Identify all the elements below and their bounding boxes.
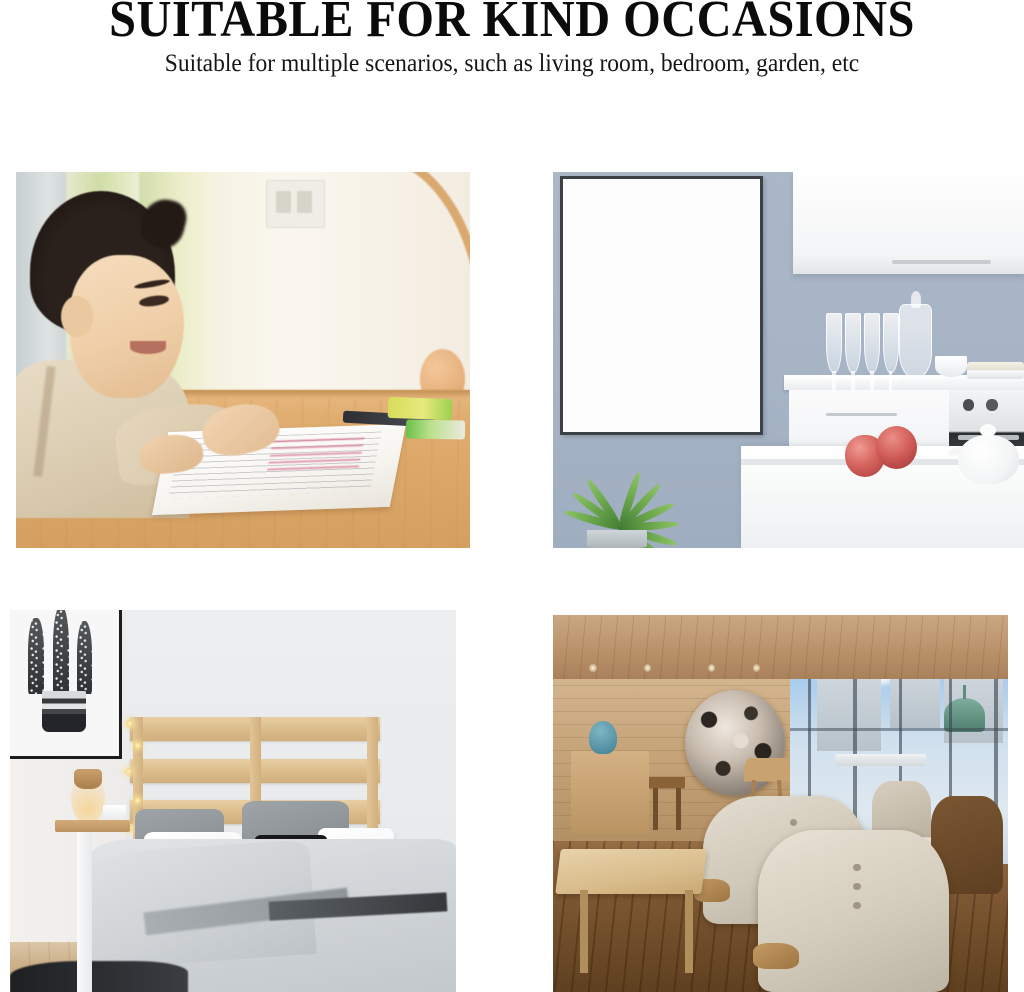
bedroom-fairy-light (134, 742, 141, 749)
living-room-armrest-front (753, 943, 799, 969)
living-room-ceiling (553, 615, 1008, 679)
living-room-scene-artwork (553, 615, 1008, 992)
bedroom-fairy-light (125, 768, 132, 775)
kitchen-bowl (935, 356, 968, 377)
kitchen-upper-cabinet-handle (892, 260, 991, 264)
bedroom-nightstand (55, 820, 131, 992)
bedroom-lamp-shade (74, 769, 101, 790)
living-room-armchair-button (853, 883, 860, 890)
scene-photo-living-room: living room (553, 615, 1008, 992)
kitchen-oven-knob-right (986, 399, 997, 410)
bedroom-scene-artwork (10, 610, 456, 992)
kitchen-teapot (958, 435, 1019, 484)
living-room-coffee-table (555, 849, 706, 894)
bedroom-cup (103, 805, 126, 820)
kitchen-plant-pot (587, 530, 648, 548)
scene-photo-study: study (16, 172, 470, 548)
study-boy-mouth (130, 341, 166, 354)
kitchen-wine-glass-4 (883, 313, 899, 373)
living-room-window-transom (781, 728, 1009, 731)
kitchen-decanter (899, 304, 932, 379)
kitchen-framed-panel (560, 176, 763, 435)
bedroom-fairy-light (126, 720, 133, 727)
scene-photo-bedroom: bedroom (10, 610, 456, 992)
kitchen-wine-glass-1 (826, 313, 842, 373)
living-room-armchair-button (790, 819, 797, 826)
bedroom-cactus-arm (53, 610, 69, 697)
page-subtitle: Suitable for multiple scenarios, such as… (31, 49, 994, 79)
bedroom-cactus-pot (42, 691, 86, 732)
bedroom-cactus-arm (28, 618, 43, 694)
living-room-vase (589, 721, 616, 755)
kitchen-plates-stack (967, 362, 1024, 379)
living-room-armchair-button (853, 864, 860, 871)
study-glue-stick-second (406, 420, 465, 440)
kitchen-wine-glass-2 (845, 313, 861, 373)
bedroom-fairy-light (134, 797, 141, 804)
bedroom-nightstand-leg (77, 832, 92, 992)
kitchen-upper-cabinet (793, 172, 1024, 274)
kitchen-scene-artwork (553, 172, 1024, 548)
header: SUITABLE FOR KIND OCCASIONS Suitable for… (0, 0, 1024, 110)
living-room-coffee-table-leg (685, 890, 693, 973)
study-workbook-pink-marks (267, 437, 365, 474)
living-room-sideboard (571, 751, 648, 834)
study-glue-stick (388, 396, 452, 419)
living-room-coffee-table-leg (580, 890, 588, 973)
page-title: SUITABLE FOR KIND OCCASIONS (36, 0, 988, 45)
bedroom-cactus-arm (77, 621, 92, 694)
kitchen-wine-glass-3 (864, 313, 880, 373)
living-room-high-table (835, 754, 926, 765)
kitchen-apple-back (876, 426, 917, 469)
living-room-ceiling-spotlight (589, 664, 596, 672)
living-room-stool (649, 777, 685, 830)
kitchen-spider-plant (558, 435, 690, 548)
kitchen-oven-knob-left (963, 399, 974, 410)
bedroom-cactus-art-print (10, 610, 122, 759)
living-room-armchair-button (853, 902, 860, 909)
scene-photo-kitchen: kitchen (553, 172, 1024, 548)
bedroom-nightstand-top (55, 820, 131, 832)
study-scene-artwork (16, 172, 470, 548)
kitchen-base-cabinet-handle (826, 413, 897, 417)
